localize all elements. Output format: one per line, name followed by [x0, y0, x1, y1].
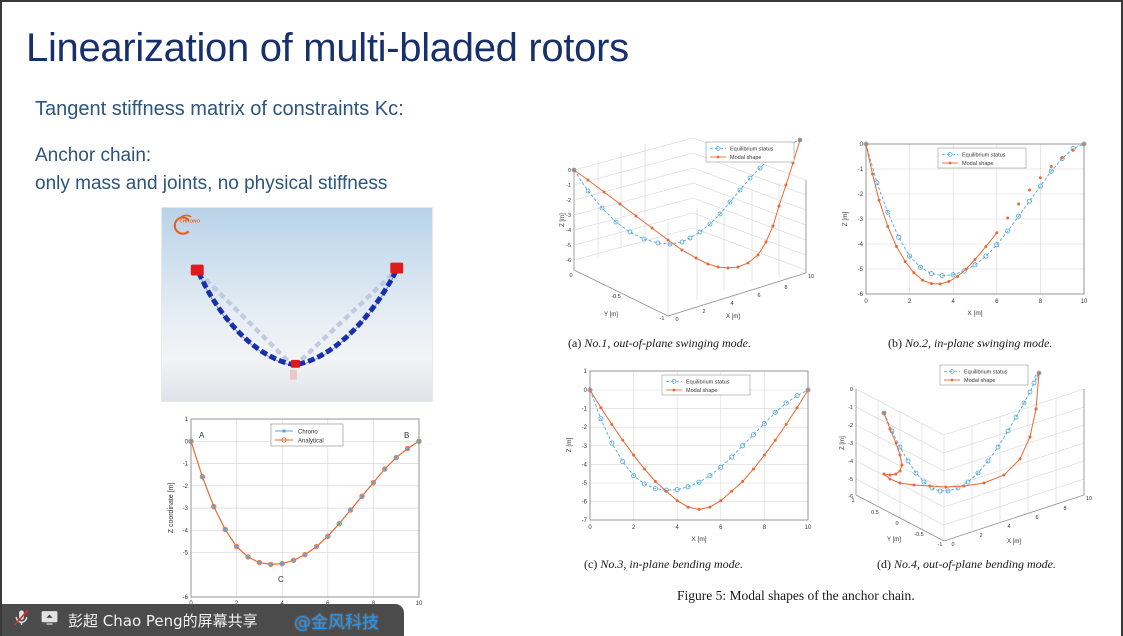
body-line-1: Anchor chain:: [35, 142, 387, 170]
subplot-d-chart: 0-1-2 -3-4-5-6 Z [m] 10.50 -0.5-1 Y [m] …: [834, 355, 1102, 555]
svg-text:-1: -1: [582, 407, 588, 413]
svg-text:-1: -1: [848, 405, 853, 411]
svg-text:-1: -1: [660, 316, 665, 322]
svg-text:-4: -4: [582, 462, 588, 468]
svg-text:Equilibrium status: Equilibrium status: [964, 370, 1008, 376]
svg-text:-3: -3: [582, 444, 588, 450]
svg-text:-4: -4: [858, 242, 864, 248]
subcaption-d-tag: (d): [877, 557, 891, 571]
subplot-b-chart: 0-1-2 -3-4-5-6 024 6810 X [m] Z [m] Equi…: [834, 130, 1098, 330]
svg-text:2: 2: [702, 309, 705, 315]
chain-render-svg: [162, 208, 432, 402]
svg-text:0: 0: [568, 168, 571, 174]
svg-text:-2: -2: [848, 423, 853, 429]
svg-text:-3: -3: [566, 213, 571, 219]
chart-legend: Equilibrium status Modal shape: [706, 142, 794, 162]
svg-text:-2: -2: [858, 192, 864, 198]
svg-text:0: 0: [895, 521, 898, 527]
anchor-left: [191, 265, 204, 276]
x-axis-label: X [m]: [726, 314, 740, 320]
svg-text:-1: -1: [858, 167, 864, 173]
ghost-node: [290, 370, 297, 380]
svg-text:0: 0: [675, 317, 678, 323]
svg-text:Equilibrium status: Equilibrium status: [730, 147, 774, 153]
chart-legend: Equilibrium status Modal shape: [940, 365, 1028, 385]
axis-lines: [856, 389, 1084, 541]
catenary-validation-chart: A B C 10-1 -2-3-4 -5-6 024 6810 X coordi…: [161, 407, 433, 622]
microphone-muted-icon[interactable]: [12, 608, 31, 632]
svg-text:Modal shape: Modal shape: [730, 155, 762, 161]
svg-text:0: 0: [951, 542, 954, 548]
x-axis-label: X [m]: [1007, 539, 1021, 545]
subplot-c-chart: 10-1 -2-3-4 -5-6-7 024 6810 X [m] Z [m] …: [558, 355, 822, 551]
svg-text:4: 4: [676, 525, 680, 531]
page-title: Linearization of multi-bladed rotors: [26, 26, 629, 70]
svg-text:1: 1: [185, 417, 189, 423]
svg-text:2: 2: [632, 525, 636, 531]
svg-text:CHRONO: CHRONO: [179, 219, 200, 224]
annotation-C: C: [278, 575, 284, 584]
z-axis-ticks: 0-1-2 -3-4-5-6: [566, 168, 571, 264]
svg-text:Modal shape: Modal shape: [964, 378, 996, 384]
svg-text:Analytical: Analytical: [298, 439, 324, 445]
svg-text:10: 10: [808, 274, 814, 280]
subcaption-a-text: No.1, out-of-plane swinging mode.: [584, 336, 751, 350]
svg-text:-4: -4: [848, 459, 853, 465]
svg-text:-3: -3: [183, 506, 189, 512]
grid-lines: [856, 389, 1084, 541]
chart-legend: Equilibrium status Modal shape: [662, 375, 750, 395]
z-axis-label: Z [m]: [560, 213, 566, 227]
svg-text:-5: -5: [858, 267, 864, 273]
y-axis-ticks: 10-1 -2-3-4 -5-6-7: [582, 369, 588, 524]
y-axis-ticks: 10-1 -2-3-4 -5-6: [183, 417, 189, 601]
chart-legend: Equilibrium status Modal shape: [938, 148, 1026, 168]
x-axis-label: X [m]: [691, 536, 706, 543]
svg-text:-5: -5: [582, 481, 588, 487]
modal-shape-markers: [589, 389, 810, 511]
svg-text:Equilibrium status: Equilibrium status: [962, 153, 1006, 159]
x-axis-ticks: 024 6810: [588, 525, 812, 531]
annotation-B: B: [404, 431, 409, 440]
modal-shape-series: [590, 390, 808, 509]
svg-text:6: 6: [757, 293, 760, 299]
svg-text:-6: -6: [582, 500, 588, 506]
svg-text:-0.5: -0.5: [611, 294, 620, 300]
svg-text:-1: -1: [938, 542, 943, 548]
svg-text:0: 0: [850, 387, 853, 393]
x-axis-label: X [m]: [967, 310, 982, 317]
axis-lines: [574, 170, 806, 316]
svg-text:-6: -6: [566, 258, 571, 264]
y-axis-ticks: 0-1-2 -3-4-5-6: [858, 142, 864, 298]
svg-text:Modal shape: Modal shape: [686, 388, 718, 394]
svg-text:-5: -5: [566, 243, 571, 249]
subcaption-d: (d) No.4, out-of-plane bending mode.: [877, 557, 1056, 572]
svg-text:Equilibrium status: Equilibrium status: [686, 380, 730, 386]
y-axis-label: Y [m]: [887, 537, 901, 543]
svg-text:0.5: 0.5: [871, 510, 879, 516]
svg-text:0: 0: [185, 439, 189, 445]
svg-text:-6: -6: [858, 292, 864, 298]
subtitle-text: Tangent stiffness matrix of constraints …: [35, 98, 404, 121]
svg-text:-2: -2: [183, 484, 189, 490]
subcaption-c-tag: (c): [584, 557, 597, 571]
subcaption-b: (b) No.2, in-plane swinging mode.: [888, 336, 1052, 351]
body-line-2: only mass and joints, no physical stiffn…: [35, 170, 387, 198]
y-axis-label: Z coordinate [m]: [168, 483, 175, 534]
subcaption-d-text: No.4, out-of-plane bending mode.: [894, 557, 1056, 571]
equilibrium-markers: [882, 371, 1041, 493]
x-axis-ticks: 024 6810: [864, 299, 1088, 305]
subcaption-c: (c) No.3, in-plane bending mode.: [584, 557, 743, 572]
svg-text:2: 2: [908, 299, 912, 305]
z-axis-label: Z [m]: [840, 436, 846, 450]
equilibrium-series: [884, 373, 1039, 491]
svg-text:-5: -5: [183, 551, 189, 557]
svg-text:0: 0: [569, 273, 572, 279]
svg-text:0: 0: [588, 525, 592, 531]
svg-text:10: 10: [416, 601, 423, 607]
x-axis-ticks: 024 6810: [951, 496, 1092, 548]
svg-text:-3: -3: [858, 217, 864, 223]
chrono-logo-icon: CHRONO ENGINE: [170, 214, 210, 236]
body-text-block: Anchor chain: only mass and joints, no p…: [35, 142, 387, 197]
subcaption-a-tag: (a): [568, 336, 581, 350]
svg-text:-1: -1: [183, 462, 189, 468]
y-axis-label: Z [m]: [842, 211, 849, 226]
chart-legend: Chrono Analytical: [271, 424, 343, 446]
analytical-markers: [189, 439, 421, 566]
anchor-center: [291, 360, 300, 368]
svg-text:6: 6: [719, 525, 723, 531]
grid-lines: [574, 138, 806, 316]
z-axis-ticks: 0-1-2 -3-4-5-6: [848, 387, 853, 500]
analytical-series: [191, 441, 419, 564]
subcaption-b-text: No.2, in-plane swinging mode.: [905, 336, 1052, 350]
svg-text:6: 6: [1035, 515, 1038, 521]
modal-shape-markers: [883, 372, 1041, 489]
svg-text:10: 10: [1081, 299, 1088, 305]
svg-text:10: 10: [805, 525, 812, 531]
svg-text:0: 0: [860, 142, 864, 148]
svg-text:8: 8: [784, 285, 787, 291]
svg-text:8: 8: [1063, 506, 1066, 512]
subcaption-a: (a) No.1, out-of-plane swinging mode.: [568, 336, 751, 351]
svg-text:-1: -1: [566, 183, 571, 189]
svg-text:6: 6: [995, 299, 999, 305]
svg-text:10: 10: [1086, 496, 1092, 502]
svg-text:ENGINE: ENGINE: [179, 224, 196, 229]
svg-text:4: 4: [1007, 524, 1010, 530]
annotation-A: A: [199, 431, 205, 440]
svg-text:-7: -7: [582, 518, 588, 524]
chrono-series-markers: [190, 440, 421, 566]
anchor-right: [390, 263, 403, 274]
svg-text:4: 4: [730, 301, 733, 307]
svg-text:-4: -4: [566, 228, 571, 234]
svg-text:-3: -3: [848, 441, 853, 447]
svg-text:1: 1: [584, 369, 588, 375]
subcaption-c-text: No.3, in-plane bending mode.: [600, 557, 743, 571]
y-axis-label: Y [m]: [604, 312, 618, 318]
share-status-label: 彭超 Chao Peng的屏幕共享: [68, 610, 258, 631]
svg-text:8: 8: [1039, 299, 1043, 305]
svg-text:0: 0: [584, 388, 588, 394]
x-axis-ticks: 024 6810: [675, 274, 814, 323]
subplot-a-chart: 0-1-2 -3-4-5-6 Z [m] 0-0.5-1 Y [m] 024 6…: [558, 130, 822, 330]
svg-text:-2: -2: [582, 425, 588, 431]
svg-text:-5: -5: [848, 477, 853, 483]
watermark-label: @金风科技: [294, 608, 379, 633]
chrono-simulation-image: CHRONO ENGINE: [161, 207, 433, 402]
figure-caption: Figure 5: Modal shapes of the anchor cha…: [677, 588, 915, 604]
svg-text:Modal shape: Modal shape: [962, 161, 994, 167]
svg-text:2: 2: [979, 533, 982, 539]
svg-text:8: 8: [763, 525, 767, 531]
svg-text:-0.5: -0.5: [914, 532, 923, 538]
slide-canvas: Linearization of multi-bladed rotors Tan…: [0, 0, 1123, 636]
svg-text:-2: -2: [566, 198, 571, 204]
subcaption-b-tag: (b): [888, 336, 902, 350]
svg-text:Chrono: Chrono: [298, 430, 318, 436]
svg-text:-4: -4: [183, 528, 189, 534]
svg-text:4: 4: [952, 299, 956, 305]
svg-text:-6: -6: [183, 595, 189, 601]
screen-share-icon[interactable]: [40, 608, 59, 632]
y-axis-label: Z [m]: [566, 437, 573, 452]
svg-text:0: 0: [864, 299, 868, 305]
svg-text:1: 1: [851, 498, 854, 504]
